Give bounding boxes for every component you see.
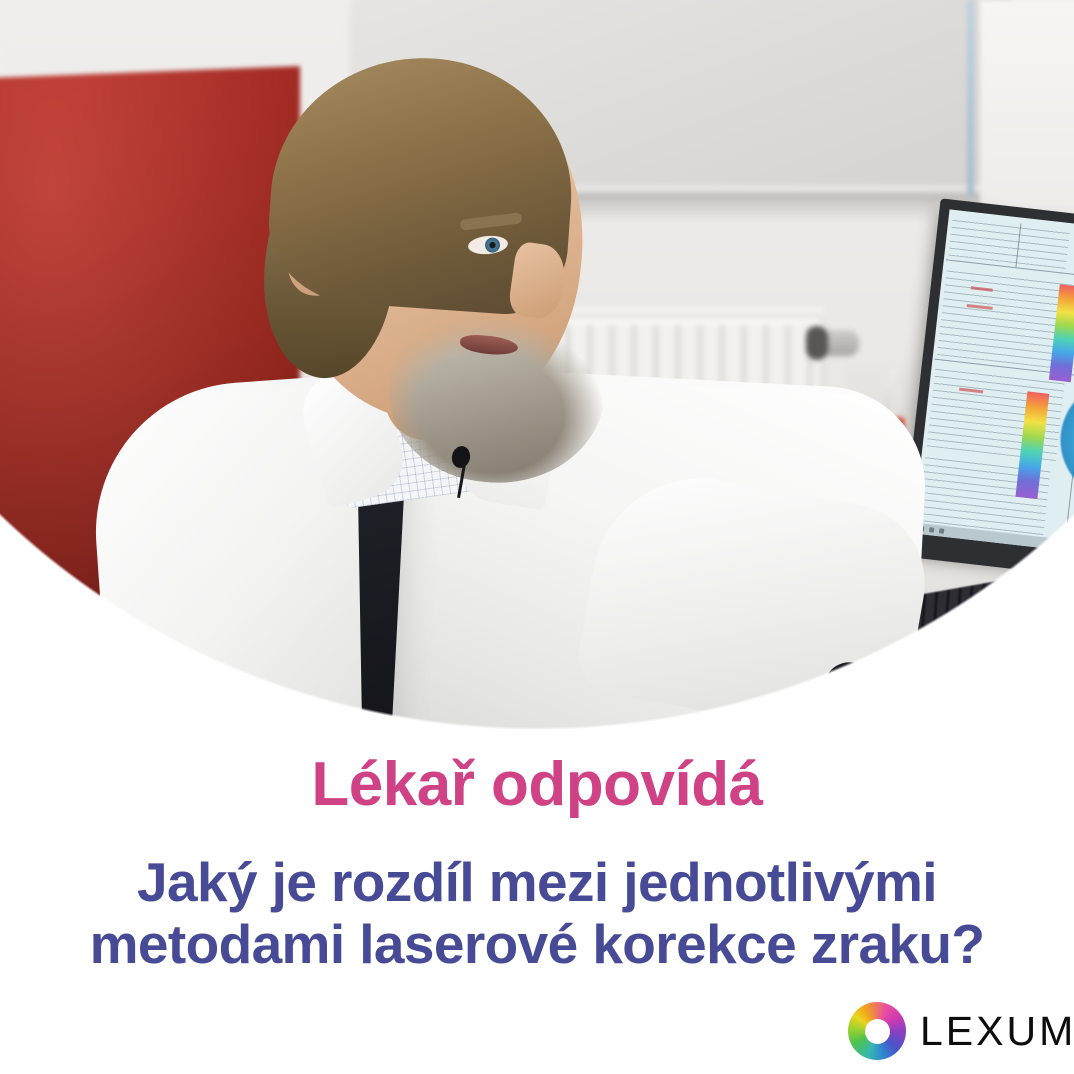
social-post-card: Lékař odpovídá Jaký je rozdíl mezi jedno… — [0, 0, 1074, 1074]
lexum-ring-icon — [848, 1002, 906, 1060]
door-frame-strip — [967, 0, 974, 196]
question-line-2: metodami laserové korekce zraku? — [0, 914, 1074, 976]
lexum-wordmark: LEXUM — [920, 1011, 1074, 1052]
hero-photo — [0, 0, 1074, 740]
post-question: Jaký je rozdíl mezi jednotlivými metodam… — [0, 852, 1074, 975]
iris — [484, 237, 500, 253]
doctor-figure — [60, 48, 940, 740]
screen-panel-divider — [1064, 231, 1074, 549]
lexum-logo[interactable]: LEXUM — [848, 1000, 1062, 1062]
question-line-1: Jaký je rozdíl mezi jednotlivými — [0, 852, 1074, 914]
post-title: Lékař odpovídá — [0, 754, 1074, 816]
photo-scene — [0, 0, 1074, 740]
